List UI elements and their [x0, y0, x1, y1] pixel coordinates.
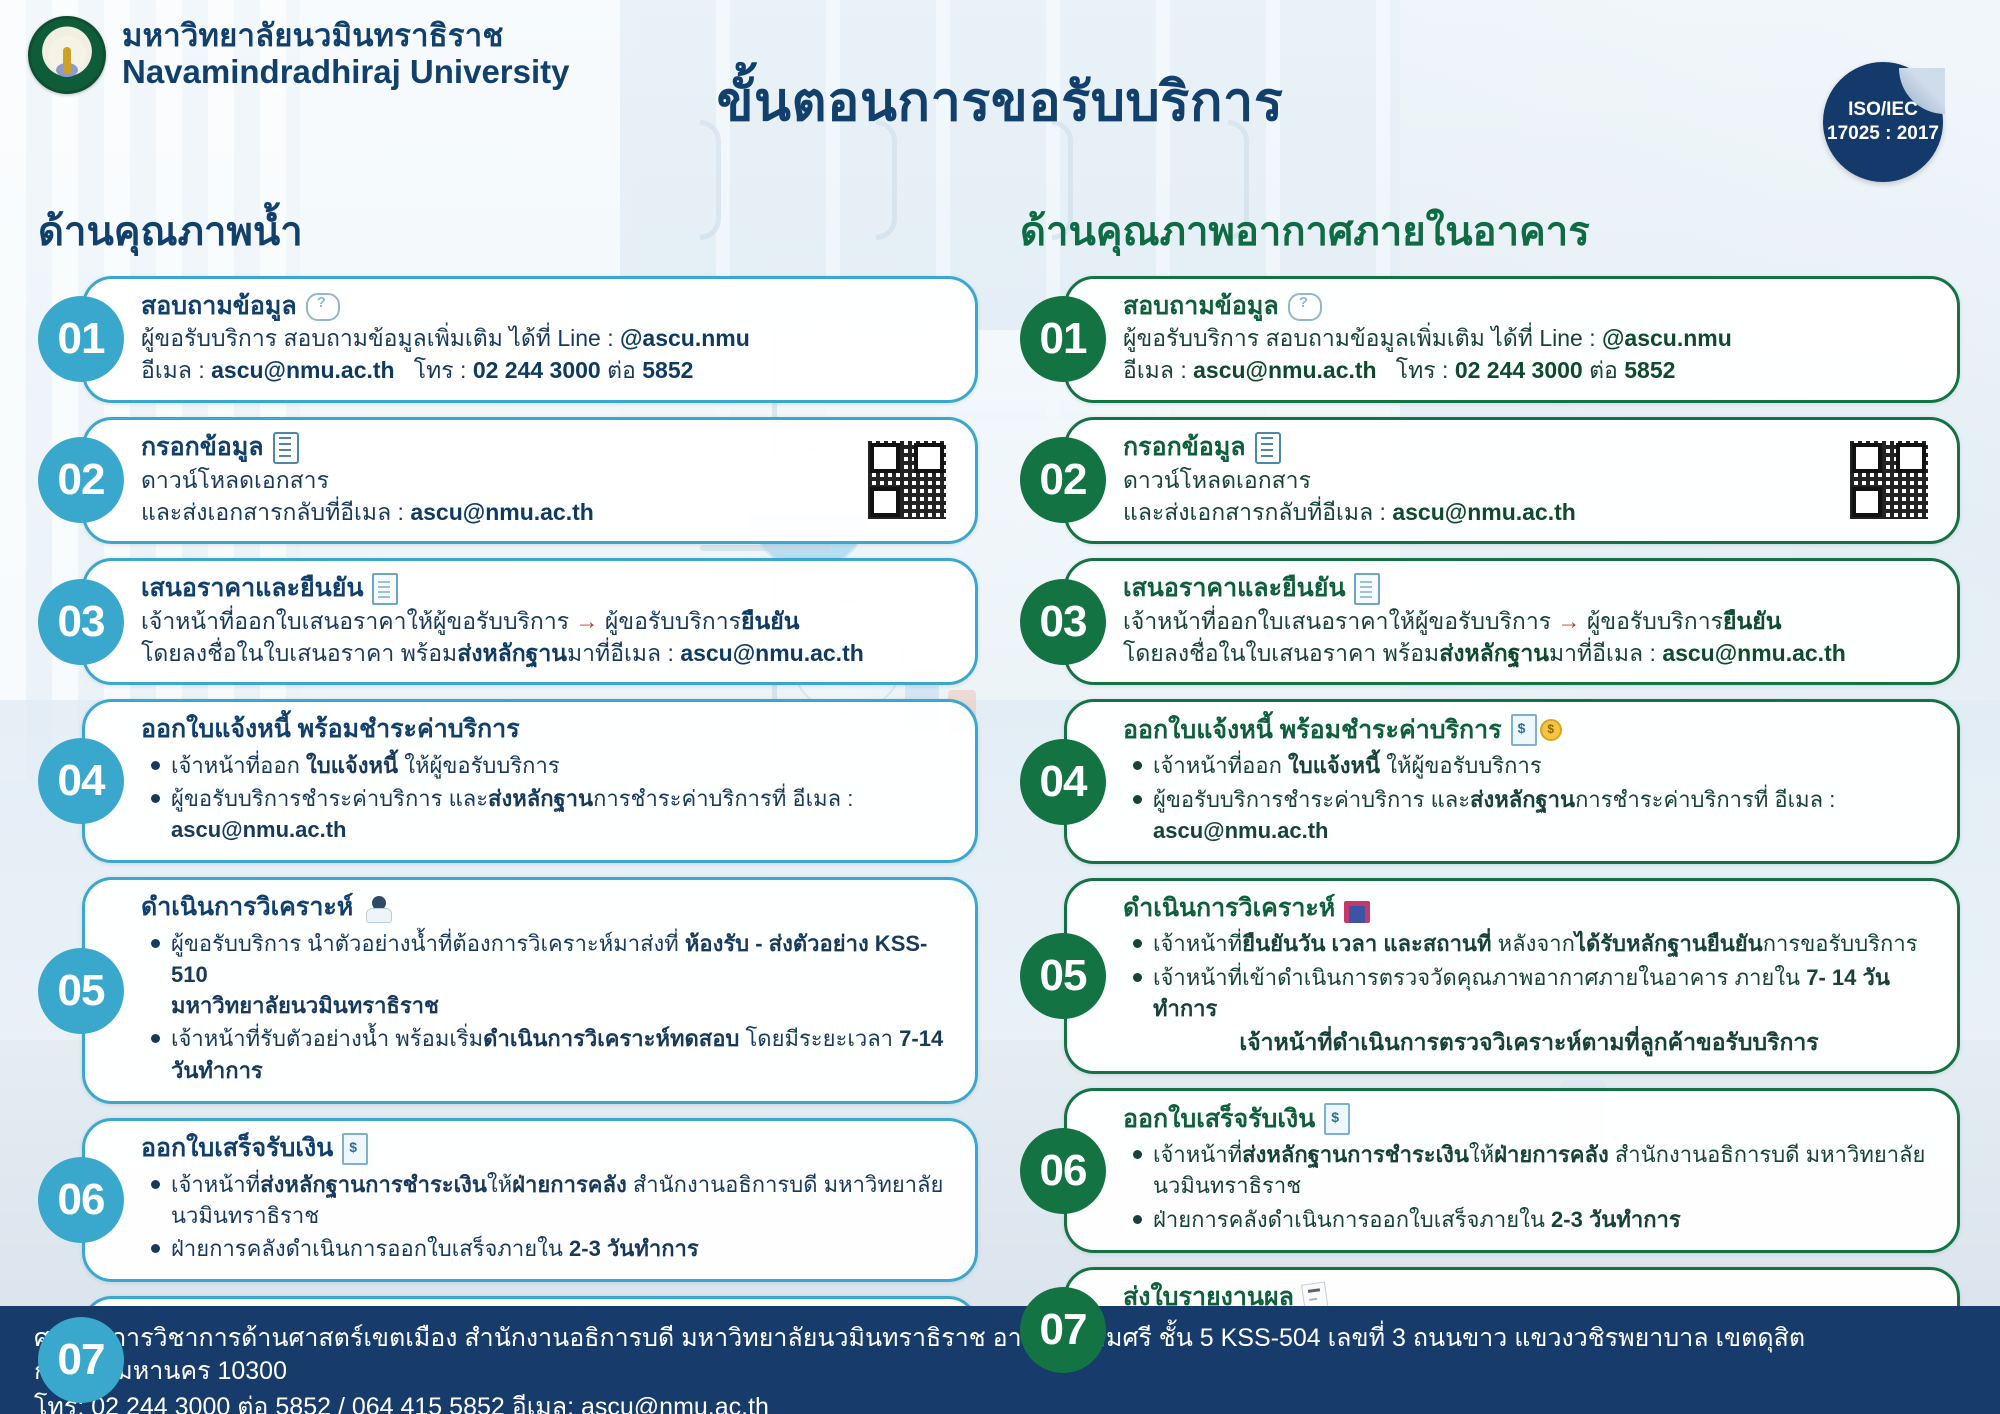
step-line: เจ้าหน้าที่ออกใบเสนอราคาให้ผู้ขอรับบริกา…: [141, 605, 953, 637]
step-number-badge: 04: [38, 738, 124, 824]
step-title: ดำเนินการวิเคราะห์: [141, 892, 953, 923]
step-bullet-list: เจ้าหน้าที่ยืนยันวัน เวลา และสถานที่ หลั…: [1123, 926, 1935, 1026]
header: มหาวิทยาลัยนวมินทราธิราช Navamindradhira…: [0, 0, 2000, 200]
university-name-th: มหาวิทยาลัยนวมินทราธิราช: [122, 19, 570, 54]
list-item: เจ้าหน้าที่รับตัวอย่างน้ำ พร้อมเริ่มดำเน…: [171, 1023, 953, 1085]
step-number-badge: 07: [38, 1317, 124, 1403]
footer-address: ศูนย์บริการวิชาการด้านศาสตร์เขตเมือง สำน…: [34, 1322, 1966, 1387]
list-item: เจ้าหน้าที่ยืนยันวัน เวลา และสถานที่ หลั…: [1153, 928, 1935, 959]
list-item: ฝ่ายการคลังดำเนินการออกใบเสร็จภายใน 2-3 …: [171, 1233, 953, 1264]
qr-code[interactable]: [865, 438, 949, 522]
receipt-icon: [1324, 1103, 1350, 1135]
step-card[interactable]: ออกใบแจ้งหนี้ พร้อมชำระค่าบริการ เจ้าหน้…: [82, 699, 978, 863]
step-card[interactable]: เสนอราคาและยืนยัน เจ้าหน้าที่ออกใบเสนอรา…: [1064, 558, 1960, 685]
step-title: ออกใบเสร็จรับเงิน: [141, 1133, 953, 1165]
step-line: โดยลงชื่อในใบเสนอราคา พร้อมส่งหลักฐานมาท…: [1123, 637, 1935, 669]
step-title-text: เสนอราคาและยืนยัน: [141, 573, 363, 604]
step-title: เสนอราคาและยืนยัน: [1123, 573, 1935, 605]
list-item: เจ้าหน้าที่ออก ใบแจ้งหนี้ ให้ผู้ขอรับบริ…: [1153, 750, 1935, 781]
step-title-text: กรอกข้อมูล: [1123, 432, 1246, 463]
qr-code[interactable]: [1847, 438, 1931, 522]
clipboard-pencil-icon: [1255, 432, 1281, 464]
receipt-icon: [342, 1133, 368, 1165]
step-card[interactable]: กรอกข้อมูล ดาวน์โหลดเอกสาร และส่งเอกสารก…: [1064, 417, 1960, 544]
step-title: เสนอราคาและยืนยัน: [141, 573, 953, 605]
footer-contact-bar: ศูนย์บริการวิชาการด้านศาสตร์เขตเมือง สำน…: [0, 1306, 2000, 1414]
step-title-text: สอบถามข้อมูล: [1123, 291, 1279, 322]
step-title: ออกใบเสร็จรับเงิน: [1123, 1103, 1935, 1135]
step-title-text: สอบถามข้อมูล: [141, 291, 297, 322]
list-item: ฝ่ายการคลังดำเนินการออกใบเสร็จภายใน 2-3 …: [1153, 1204, 1935, 1235]
list-item: ผู้ขอรับบริการชำระค่าบริการ และส่งหลักฐา…: [1153, 784, 1935, 846]
step-item[interactable]: 02 กรอกข้อมูล ดาวน์โหลดเอกสาร และส่งเอกส…: [38, 417, 978, 544]
footer-contact: โทร: 02 244 3000 ต่อ 5852 / 064 415 5852…: [34, 1391, 1966, 1414]
step-number-badge: 06: [1020, 1128, 1106, 1214]
chat-question-icon: [306, 293, 340, 321]
step-item[interactable]: 05 ดำเนินการวิเคราะห์ เจ้าหน้าที่ยืนยันว…: [1020, 878, 1960, 1074]
step-title-text: ออกใบแจ้งหนี้ พร้อมชำระค่าบริการ: [1123, 715, 1502, 746]
step-card[interactable]: ออกใบแจ้งหนี้ พร้อมชำระค่าบริการ $ เจ้าห…: [1064, 699, 1960, 864]
step-item[interactable]: 06 ออกใบเสร็จรับเงิน เจ้าหน้าที่ส่งหลักฐ…: [38, 1118, 978, 1283]
step-card[interactable]: ดำเนินการวิเคราะห์ ผู้ขอรับบริการ นำตัวอ…: [82, 877, 978, 1103]
step-card[interactable]: สอบถามข้อมูล ผู้ขอรับบริการ สอบถามข้อมูล…: [82, 276, 978, 403]
document-icon: [372, 573, 398, 605]
step-title: ออกใบแจ้งหนี้ พร้อมชำระค่าบริการ: [141, 714, 953, 745]
chat-question-icon: [1288, 293, 1322, 321]
step-number-badge: 05: [38, 948, 124, 1034]
step-number-badge: 01: [1020, 296, 1106, 382]
step-title-text: เสนอราคาและยืนยัน: [1123, 573, 1345, 604]
step-bullet-list: เจ้าหน้าที่ออก ใบแจ้งหนี้ ให้ผู้ขอรับบริ…: [141, 748, 953, 848]
column-indoor-air-quality: ด้านคุณภาพอากาศภายในอาคาร 01 สอบถามข้อมู…: [1020, 212, 1960, 1408]
list-item: เจ้าหน้าที่เข้าดำเนินการตรวจวัดคุณภาพอาก…: [1153, 962, 1935, 1024]
step-card[interactable]: กรอกข้อมูล ดาวน์โหลดเอกสาร และส่งเอกสารก…: [82, 417, 978, 544]
step-number-badge: 04: [1020, 739, 1106, 825]
step-title-text: ออกใบเสร็จรับเงิน: [1123, 1104, 1315, 1135]
document-icon: [1354, 573, 1380, 605]
step-number-badge: 06: [38, 1157, 124, 1243]
step-card[interactable]: ออกใบเสร็จรับเงิน เจ้าหน้าที่ส่งหลักฐานก…: [1064, 1088, 1960, 1253]
step-number-badge: 02: [1020, 437, 1106, 523]
step-bullet-list: เจ้าหน้าที่ส่งหลักฐานการชำระเงินให้ฝ่ายก…: [141, 1167, 953, 1267]
step-line: และส่งเอกสารกลับที่อีเมล : ascu@nmu.ac.t…: [141, 496, 953, 528]
step-card[interactable]: เสนอราคาและยืนยัน เจ้าหน้าที่ออกใบเสนอรา…: [82, 558, 978, 685]
step-item[interactable]: 04 ออกใบแจ้งหนี้ พร้อมชำระค่าบริการ เจ้า…: [38, 699, 978, 863]
list-item: เจ้าหน้าที่ส่งหลักฐานการชำระเงินให้ฝ่ายก…: [171, 1169, 953, 1231]
step-item[interactable]: 01 สอบถามข้อมูล ผู้ขอรับบริการ สอบถามข้อ…: [1020, 276, 1960, 403]
page-title: ขั้นตอนการขอรับบริการ: [0, 58, 2000, 144]
step-item[interactable]: 04 ออกใบแจ้งหนี้ พร้อมชำระค่าบริการ $ เจ…: [1020, 699, 1960, 864]
step-line: ผู้ขอรับบริการ สอบถามข้อมูลเพิ่มเติม ได้…: [1123, 322, 1935, 354]
column-heading-water: ด้านคุณภาพน้ำ: [38, 212, 978, 252]
step-line: อีเมล : ascu@nmu.ac.th โทร : 02 244 3000…: [1123, 354, 1935, 386]
step-bullet-list: ผู้ขอรับบริการ นำตัวอย่างน้ำที่ต้องการวิ…: [141, 926, 953, 1088]
step-number-badge: 03: [38, 579, 124, 665]
step-line: ดาวน์โหลดเอกสาร: [141, 464, 953, 496]
list-item: เจ้าหน้าที่ส่งหลักฐานการชำระเงินให้ฝ่ายก…: [1153, 1139, 1935, 1201]
scientist-icon: [362, 894, 392, 922]
step-item[interactable]: 06 ออกใบเสร็จรับเงิน เจ้าหน้าที่ส่งหลักฐ…: [1020, 1088, 1960, 1253]
step-line: อีเมล : ascu@nmu.ac.th โทร : 02 244 3000…: [141, 354, 953, 386]
step-item[interactable]: 03 เสนอราคาและยืนยัน เจ้าหน้าที่ออกใบเสน…: [1020, 558, 1960, 685]
step-title: สอบถามข้อมูล: [1123, 291, 1935, 322]
column-heading-air: ด้านคุณภาพอากาศภายในอาคาร: [1020, 212, 1960, 252]
building-icon: [1344, 895, 1370, 923]
step-title: กรอกข้อมูล: [141, 432, 953, 464]
step-card[interactable]: สอบถามข้อมูล ผู้ขอรับบริการ สอบถามข้อมูล…: [1064, 276, 1960, 403]
step-line: ผู้ขอรับบริการ สอบถามข้อมูลเพิ่มเติม ได้…: [141, 322, 953, 354]
step-bullet-list: เจ้าหน้าที่ส่งหลักฐานการชำระเงินให้ฝ่ายก…: [1123, 1137, 1935, 1237]
step-title: ดำเนินการวิเคราะห์: [1123, 893, 1935, 924]
list-item: ผู้ขอรับบริการชำระค่าบริการ และส่งหลักฐา…: [171, 783, 953, 845]
step-title: ออกใบแจ้งหนี้ พร้อมชำระค่าบริการ $: [1123, 714, 1935, 746]
step-number-badge: 05: [1020, 933, 1106, 1019]
step-title: กรอกข้อมูล: [1123, 432, 1935, 464]
step-bullet-list: เจ้าหน้าที่ออก ใบแจ้งหนี้ ให้ผู้ขอรับบริ…: [1123, 748, 1935, 848]
step-title-text: กรอกข้อมูล: [141, 432, 264, 463]
step-number-badge: 02: [38, 437, 124, 523]
step-item[interactable]: 01 สอบถามข้อมูล ผู้ขอรับบริการ สอบถามข้อ…: [38, 276, 978, 403]
iso-standard-label: ISO/IEC: [1848, 98, 1918, 122]
step-card[interactable]: ออกใบเสร็จรับเงิน เจ้าหน้าที่ส่งหลักฐานก…: [82, 1118, 978, 1283]
step-item[interactable]: 05 ดำเนินการวิเคราะห์ ผู้ขอรับบริการ นำต…: [38, 877, 978, 1103]
step-line: โดยลงชื่อในใบเสนอราคา พร้อมส่งหลักฐานมาท…: [141, 637, 953, 669]
step-title-text: ดำเนินการวิเคราะห์: [141, 892, 353, 923]
list-item: ผู้ขอรับบริการ นำตัวอย่างน้ำที่ต้องการวิ…: [171, 928, 953, 1022]
step-number-badge: 01: [38, 296, 124, 382]
step-item[interactable]: 03 เสนอราคาและยืนยัน เจ้าหน้าที่ออกใบเสน…: [38, 558, 978, 685]
step-title-text: ออกใบแจ้งหนี้ พร้อมชำระค่าบริการ: [141, 714, 520, 745]
step-title-text: ดำเนินการวิเคราะห์: [1123, 893, 1335, 924]
step-item[interactable]: 02 กรอกข้อมูล ดาวน์โหลดเอกสาร และส่งเอกส…: [1020, 417, 1960, 544]
coin-icon: $: [1540, 719, 1562, 741]
step-number-badge: 03: [1020, 579, 1106, 665]
column-water-quality: ด้านคุณภาพน้ำ 01 สอบถามข้อมูล ผู้ขอรับบร…: [38, 212, 978, 1414]
list-item: เจ้าหน้าที่ออก ใบแจ้งหนี้ ให้ผู้ขอรับบริ…: [171, 750, 953, 781]
infographic-page: มหาวิทยาลัยนวมินทราธิราช Navamindradhira…: [0, 0, 2000, 1414]
step-number-badge: 07: [1020, 1287, 1106, 1373]
step-card[interactable]: ดำเนินการวิเคราะห์ เจ้าหน้าที่ยืนยันวัน …: [1064, 878, 1960, 1074]
step-line: ดาวน์โหลดเอกสาร: [1123, 464, 1935, 496]
clipboard-pencil-icon: [273, 432, 299, 464]
step-center-note: เจ้าหน้าที่ดำเนินการตรวจวิเคราะห์ตามที่ล…: [1123, 1026, 1935, 1058]
iso-certification-badge: ISO/IEC 17025 : 2017: [1823, 62, 1943, 182]
invoice-icon: [1511, 714, 1537, 746]
iso-version-label: 17025 : 2017: [1827, 122, 1939, 146]
step-title: สอบถามข้อมูล: [141, 291, 953, 322]
step-title-text: ออกใบเสร็จรับเงิน: [141, 1133, 333, 1164]
step-line: เจ้าหน้าที่ออกใบเสนอราคาให้ผู้ขอรับบริกา…: [1123, 605, 1935, 637]
step-line: และส่งเอกสารกลับที่อีเมล : ascu@nmu.ac.t…: [1123, 496, 1935, 528]
